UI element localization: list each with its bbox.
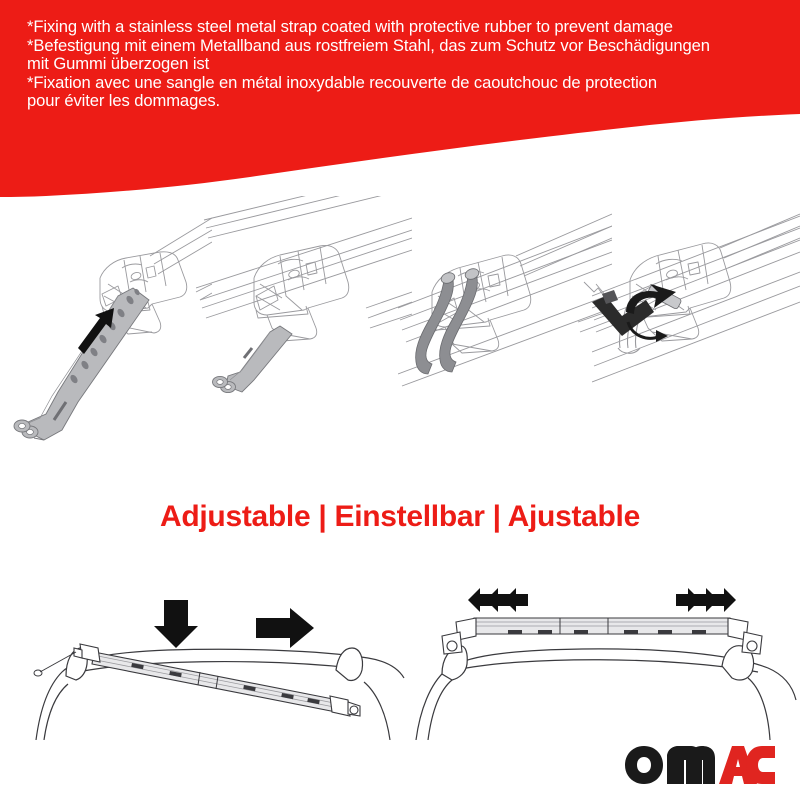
header-banner: *Fixing with a stainless steel metal str… [0, 0, 800, 200]
lower-crossbar-arrow [154, 600, 198, 648]
crossbar-placement-diagram [18, 560, 408, 740]
product-infographic-page: *Fixing with a stainless steel metal str… [0, 0, 800, 800]
step-4-illustration [592, 196, 800, 466]
adjustable-section-title: Adjustable | Einstellbar | Ajustable [0, 500, 800, 534]
banner-description-text: *Fixing with a stainless steel metal str… [27, 18, 787, 111]
omac-logo-mark [624, 744, 776, 786]
width-decrease-arrows [468, 588, 528, 612]
step-1-illustration [0, 196, 212, 466]
omac-logo [624, 746, 776, 786]
step-2-illustration [196, 196, 412, 466]
adjustable-diagrams-strip [0, 560, 800, 740]
step-3-illustration [398, 196, 612, 466]
installation-steps-strip [0, 196, 800, 466]
crossbar-width-adjust-diagram [412, 560, 800, 740]
slide-crossbar-arrow [256, 608, 314, 648]
width-increase-arrows [676, 588, 736, 612]
